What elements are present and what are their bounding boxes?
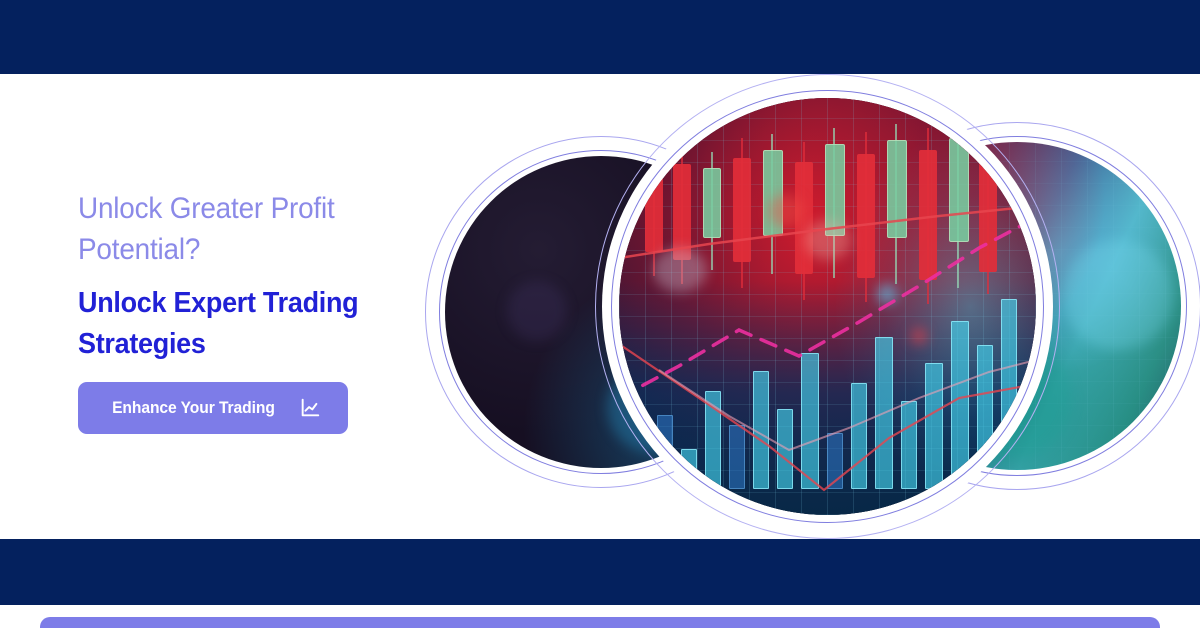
line-chart-icon (299, 397, 321, 419)
bottom-navy-bar (0, 539, 1200, 605)
bottom-purple-strip (40, 617, 1160, 628)
banner-root: Unlock Greater Profit Potential? Unlock … (0, 0, 1200, 628)
kicker-text: Unlock Greater Profit Potential? (78, 188, 431, 270)
circle-center (595, 74, 1060, 539)
headline-text: Unlock Expert Trading Strategies (78, 283, 431, 365)
circle-artwork-cluster (415, 74, 1200, 539)
cta-label: Enhance Your Trading (112, 398, 275, 418)
copy-block: Unlock Greater Profit Potential? Unlock … (78, 188, 458, 365)
top-navy-bar (0, 0, 1200, 74)
enhance-your-trading-button[interactable]: Enhance Your Trading (78, 382, 348, 434)
candlestick-chart (619, 98, 1036, 515)
chart-trend-lines (619, 98, 1036, 515)
circle-center-image (619, 98, 1036, 515)
